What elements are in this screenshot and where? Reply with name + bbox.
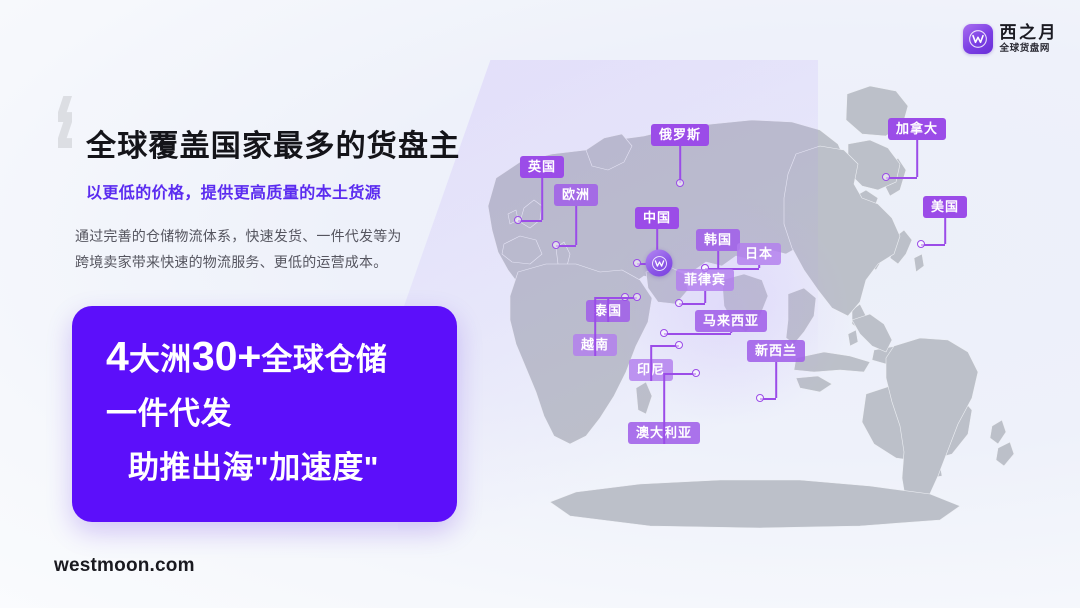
brand-tagline: 全球货盘网: [1000, 44, 1059, 54]
map-pin-stem-philippines: [704, 291, 706, 303]
callout-line-1: 4大洲30+全球仓储: [106, 336, 457, 380]
map-pin-stem-newzealand: [775, 362, 777, 398]
map-pin-stem-russia: [679, 146, 681, 183]
map-pin-dot-indonesia[interactable]: [675, 341, 683, 349]
map-pin-dot-vietnam[interactable]: [633, 293, 641, 301]
callout-line-2: 一件代发: [106, 394, 457, 434]
brand-name: 西之月: [1000, 24, 1059, 41]
map-pin-label-russia[interactable]: 俄罗斯: [651, 124, 709, 146]
map-pin-stem-europe: [575, 206, 577, 245]
map-pin-stem-canada: [916, 140, 918, 177]
callout-number-continents: 4: [106, 333, 129, 379]
map-pin-label-canada[interactable]: 加拿大: [888, 118, 946, 140]
map-pin-dot-usa[interactable]: [917, 240, 925, 248]
map-pin-stem-korea: [717, 251, 719, 268]
map-pin-dot-europe[interactable]: [552, 241, 560, 249]
map-pin-dot-uk[interactable]: [514, 216, 522, 224]
footer-url: westmoon.com: [54, 555, 195, 577]
map-pin-stem-australia: [663, 373, 665, 444]
world-map: [400, 58, 1080, 528]
china-hub-badge-icon: [646, 250, 673, 277]
body-paragraph: 通过完善的仓储物流体系，快速发货、一件代发等为跨境卖家带来快速的物流服务、更低的…: [75, 223, 405, 275]
map-pin-stem-h-malaysia: [664, 333, 731, 335]
map-pin-label-usa[interactable]: 美国: [923, 196, 967, 218]
map-pin-dot-australia[interactable]: [692, 369, 700, 377]
page-subtitle: 以更低的价格，提供更高质量的本土货源: [86, 179, 381, 203]
map-pin-label-europe[interactable]: 欧洲: [554, 184, 598, 206]
callout-number-warehouses: 30+: [192, 333, 262, 379]
map-pin-stem-usa: [944, 218, 946, 244]
callout-line-3: 助推出海"加速度": [106, 448, 457, 488]
map-pin-dot-russia[interactable]: [676, 179, 684, 187]
map-pin-label-japan[interactable]: 日本: [737, 243, 781, 265]
map-pin-dot-canada[interactable]: [882, 173, 890, 181]
callout-text-warehouses: 全球仓储: [261, 342, 387, 377]
map-pin-dot-philippines[interactable]: [675, 299, 683, 307]
callout-text-continents: 大洲: [129, 342, 192, 377]
map-pin-label-uk[interactable]: 英国: [520, 156, 564, 178]
map-pin-stem-indonesia: [650, 345, 652, 381]
map-pin-dot-malaysia[interactable]: [660, 329, 668, 337]
map-pin-stem-thailand: [607, 297, 609, 322]
map-pin-dot-china[interactable]: [633, 259, 641, 267]
map-pin-stem-h-vietnam: [595, 297, 637, 299]
brand-logo: 西之月 全球货盘网: [963, 24, 1059, 54]
map-pin-label-china[interactable]: 中国: [635, 207, 679, 229]
map-highlight-wedge: [398, 60, 818, 530]
map-pin-label-philippines[interactable]: 菲律宾: [676, 269, 734, 291]
brand-logo-text: 西之月 全球货盘网: [1000, 24, 1059, 54]
map-pin-label-korea[interactable]: 韩国: [696, 229, 740, 251]
slide-canvas: 西之月 全球货盘网 全球覆盖国家最多的货盘主 以更低的价格，提供更高质量的本土货…: [0, 0, 1080, 608]
westmoon-w-monogram-icon: [963, 24, 993, 54]
map-pin-label-malaysia[interactable]: 马来西亚: [695, 310, 767, 332]
map-pin-dot-newzealand[interactable]: [756, 394, 764, 402]
map-pin-stem-vietnam: [594, 297, 596, 356]
map-pin-stem-h-canada: [886, 177, 917, 179]
map-pin-stem-uk: [541, 178, 543, 220]
map-pin-label-newzealand[interactable]: 新西兰: [747, 340, 805, 362]
highlight-callout-card: 4大洲30+全球仓储 一件代发 助推出海"加速度": [72, 306, 457, 522]
page-title: 全球覆盖国家最多的货盘主: [86, 121, 460, 165]
